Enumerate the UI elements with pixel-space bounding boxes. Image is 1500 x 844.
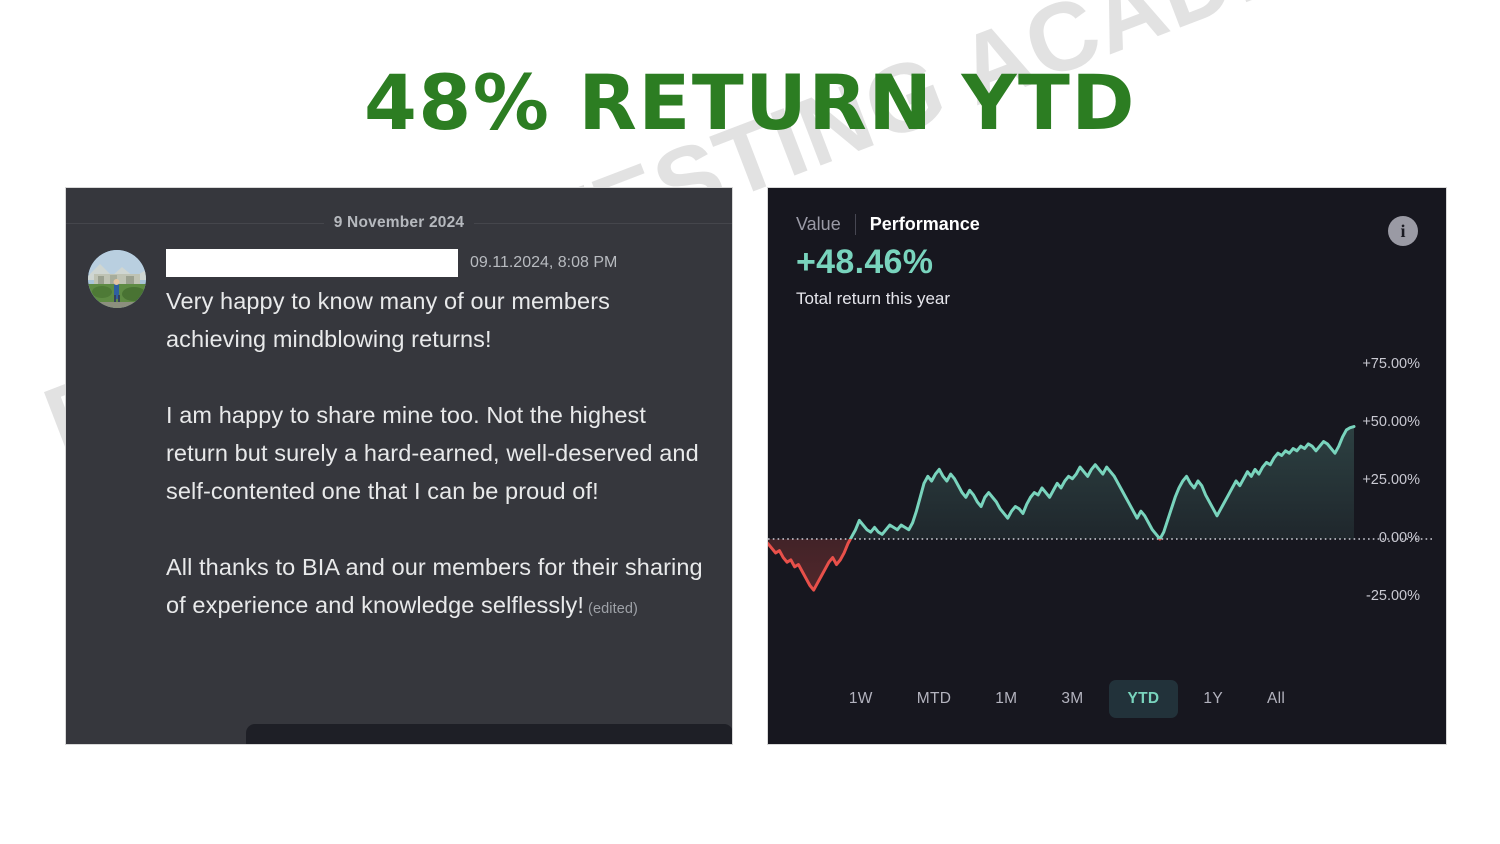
performance-header: Value Performance +48.46% Total return t… [768,188,1446,309]
total-return-caption: Total return this year [796,289,1418,309]
edited-label: (edited) [588,601,638,617]
message-header: 09.11.2024, 8:08 PM [166,248,712,278]
performance-panel: Value Performance +48.46% Total return t… [768,188,1446,744]
range-selector: 1WMTD1M3MYTD1YAll [768,680,1446,718]
y-tick-label: +75.00% [1362,356,1420,372]
avatar-photo-icon [88,250,146,308]
performance-tabs: Value Performance [796,214,1418,235]
y-tick-label: 0.00% [1379,530,1420,546]
range-button-all[interactable]: All [1248,680,1304,718]
message-paragraph-2: I am happy to share mine too. Not the hi… [166,396,712,510]
info-icon[interactable]: i [1388,216,1418,246]
chat-panel: 9 November 2024 [66,188,732,744]
message-paragraph-1: Very happy to know many of our members a… [166,282,712,358]
message-paragraph-3: All thanks to BIA and our members for th… [166,548,712,628]
range-button-1y[interactable]: 1Y [1184,680,1242,718]
y-tick-label: -25.00% [1366,588,1420,604]
range-button-ytd[interactable]: YTD [1109,680,1179,718]
date-divider: 9 November 2024 [66,214,732,232]
page-title: 48% RETURN YTD [0,58,1500,147]
message-timestamp: 09.11.2024, 8:08 PM [470,254,617,272]
date-divider-label: 9 November 2024 [324,214,475,231]
y-tick-label: +50.00% [1362,414,1420,430]
range-button-1m[interactable]: 1M [976,680,1036,718]
total-return-value: +48.46% [796,243,1418,282]
range-button-1w[interactable]: 1W [830,680,892,718]
chart-area-positive [768,427,1354,590]
message-text: Very happy to know many of our members a… [166,282,712,628]
author-name-redacted [166,249,458,277]
y-axis-labels: -25.00%0.00%+25.00%+50.00%+75.00% [1342,328,1434,668]
y-tick-label: +25.00% [1362,472,1420,488]
tab-value[interactable]: Value [796,214,856,235]
message-body: 09.11.2024, 8:08 PM Very happy to know m… [166,248,712,628]
screenshot-root: BETTER INVESTING ACADEMY 48% RETURN YTD … [0,0,1500,844]
performance-chart: -25.00%0.00%+25.00%+50.00%+75.00% [768,328,1446,668]
range-button-mtd[interactable]: MTD [898,680,970,718]
chat-message: 09.11.2024, 8:08 PM Very happy to know m… [66,232,732,628]
tab-performance[interactable]: Performance [870,214,980,235]
range-button-3m[interactable]: 3M [1042,680,1102,718]
message-embed-preview[interactable] [246,724,732,744]
avatar[interactable] [88,250,146,308]
